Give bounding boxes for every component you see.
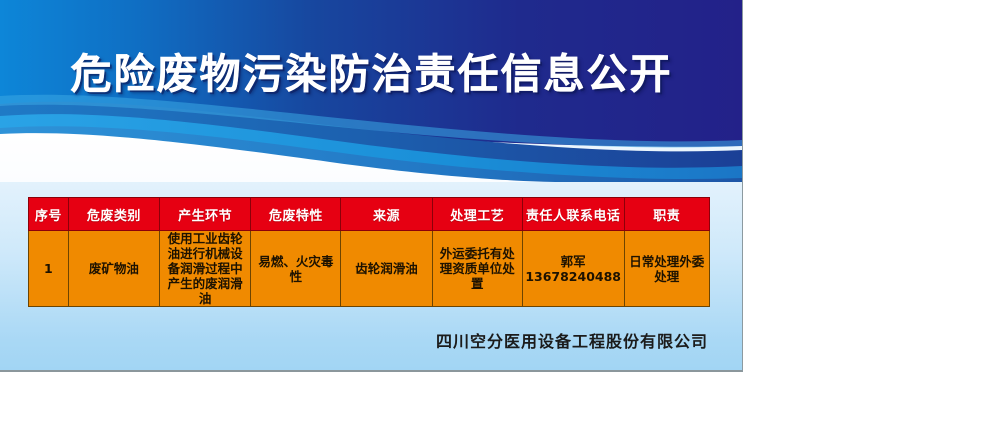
responsible-person-phone: 13678240488 <box>525 269 622 284</box>
responsible-person-name: 郭军 <box>525 254 622 269</box>
column-header-contact-phone: 责任人联系电话 <box>522 198 624 231</box>
cell-index: 1 <box>29 231 69 307</box>
column-header-treatment: 处理工艺 <box>432 198 522 231</box>
cell-treatment: 外运委托有处理资质单位处置 <box>432 231 522 307</box>
table-row: 1 废矿物油 使用工业齿轮油进行机械设备润滑过程中产生的废润滑油 易燃、火灾毒性… <box>29 231 710 307</box>
page-title: 危险废物污染防治责任信息公开 <box>0 48 743 100</box>
table-header-row: 序号 危废类别 产生环节 危废特性 来源 处理工艺 责任人联系电话 职责 <box>29 198 710 231</box>
column-header-duty: 职责 <box>624 198 709 231</box>
banner: 危险废物污染防治责任信息公开 <box>0 0 743 182</box>
column-header-hazard-property: 危废特性 <box>251 198 341 231</box>
poster: 危险废物污染防治责任信息公开 序号 危废类别 产生环节 危废特性 来源 处理工艺… <box>0 0 743 372</box>
column-header-generation-stage: 产生环节 <box>160 198 251 231</box>
cell-generation-stage: 使用工业齿轮油进行机械设备润滑过程中产生的废润滑油 <box>160 231 251 307</box>
column-header-index: 序号 <box>29 198 69 231</box>
company-name: 四川空分医用设备工程股份有限公司 <box>28 328 710 352</box>
cell-source: 齿轮润滑油 <box>341 231 432 307</box>
column-header-source: 来源 <box>341 198 432 231</box>
hazardous-waste-table: 序号 危废类别 产生环节 危废特性 来源 处理工艺 责任人联系电话 职责 1 废… <box>28 197 710 307</box>
cell-contact: 郭军 13678240488 <box>522 231 624 307</box>
cell-category: 废矿物油 <box>68 231 159 307</box>
cell-hazard-property: 易燃、火灾毒性 <box>251 231 341 307</box>
cell-duty: 日常处理外委处理 <box>624 231 709 307</box>
column-header-category: 危废类别 <box>68 198 159 231</box>
